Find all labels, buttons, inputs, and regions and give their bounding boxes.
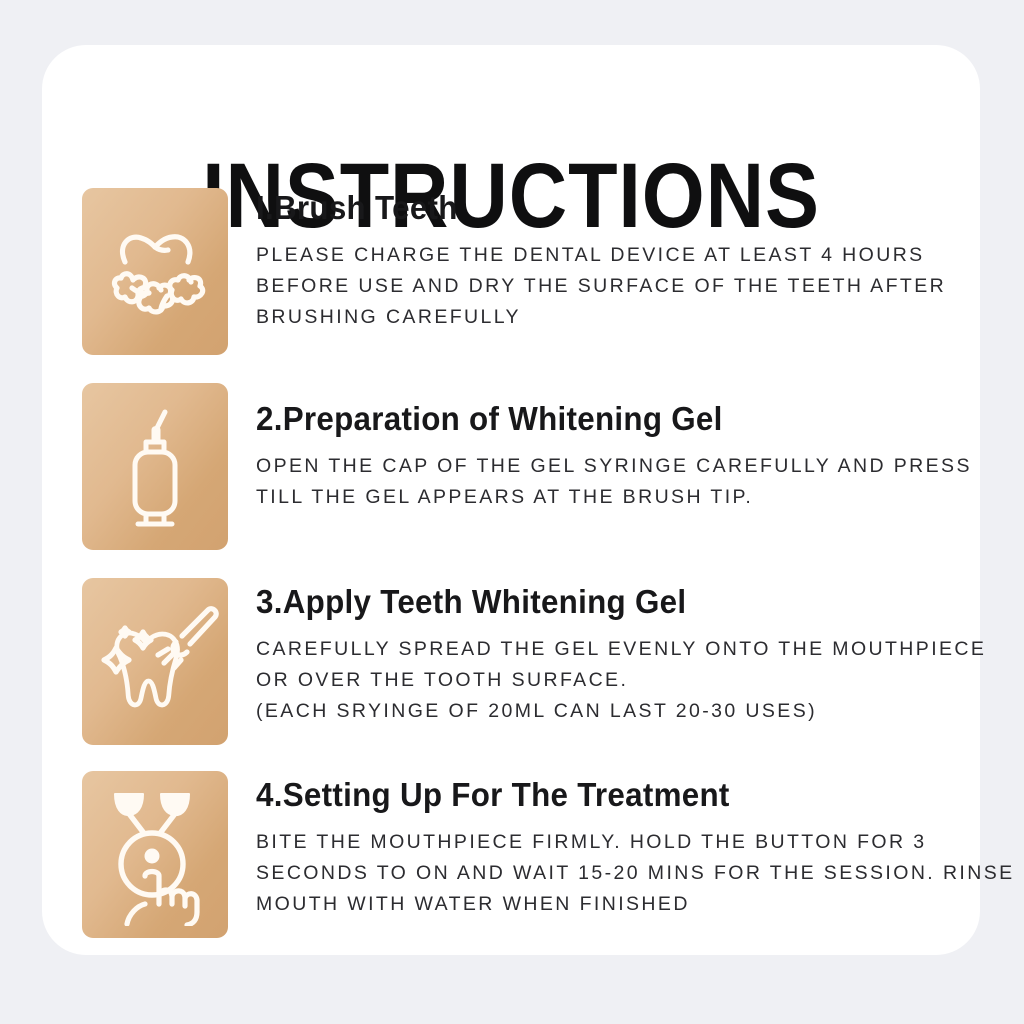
step-2-description: OPEN THE CAP OF THE GEL SYRINGE CAREFULL…: [256, 451, 1020, 513]
step-2-heading: 2.Preparation of Whitening Gel: [256, 401, 982, 437]
step-3-body: 3.Apply Teeth Whitening Gel CAREFULLY SP…: [228, 578, 1020, 727]
step-3-icon-tile: [82, 578, 228, 745]
step-1-heading: I.Brush Teeth: [256, 190, 982, 226]
instructions-card: INSTRUCTIONS: [42, 45, 980, 955]
list-item: 2.Preparation of Whitening Gel OPEN THE …: [82, 383, 1020, 550]
list-item: 3.Apply Teeth Whitening Gel CAREFULLY SP…: [82, 578, 1020, 745]
instructions-page: INSTRUCTIONS: [0, 0, 1024, 1024]
step-2-icon-tile: [82, 383, 228, 550]
tooth-with-gel-applicator-icon: [90, 592, 220, 732]
step-4-heading: 4.Setting Up For The Treatment: [256, 777, 982, 813]
step-3-heading: 3.Apply Teeth Whitening Gel: [256, 584, 982, 620]
step-4-body: 4.Setting Up For The Treatment BITE THE …: [228, 771, 1020, 920]
step-4-icon-tile: [82, 771, 228, 938]
list-item: 4.Setting Up For The Treatment BITE THE …: [82, 771, 1020, 938]
step-1-description: PLEASE CHARGE THE DENTAL DEVICE AT LEAST…: [256, 240, 1020, 332]
list-item: I.Brush Teeth PLEASE CHARGE THE DENTAL D…: [82, 188, 1020, 355]
steps-list: I.Brush Teeth PLEASE CHARGE THE DENTAL D…: [82, 188, 1020, 938]
step-2-body: 2.Preparation of Whitening Gel OPEN THE …: [228, 383, 1020, 513]
tooth-with-foam-icon: [103, 228, 207, 316]
step-1-body: I.Brush Teeth PLEASE CHARGE THE DENTAL D…: [228, 188, 1020, 333]
mouthpiece-button-press-icon: [99, 784, 211, 926]
step-1-icon-tile: [82, 188, 228, 355]
step-3-description: CAREFULLY SPREAD THE GEL EVENLY ONTO THE…: [256, 634, 1020, 726]
gel-syringe-icon: [118, 404, 192, 530]
step-4-description: BITE THE MOUTHPIECE FIRMLY. HOLD THE BUT…: [256, 827, 1020, 919]
